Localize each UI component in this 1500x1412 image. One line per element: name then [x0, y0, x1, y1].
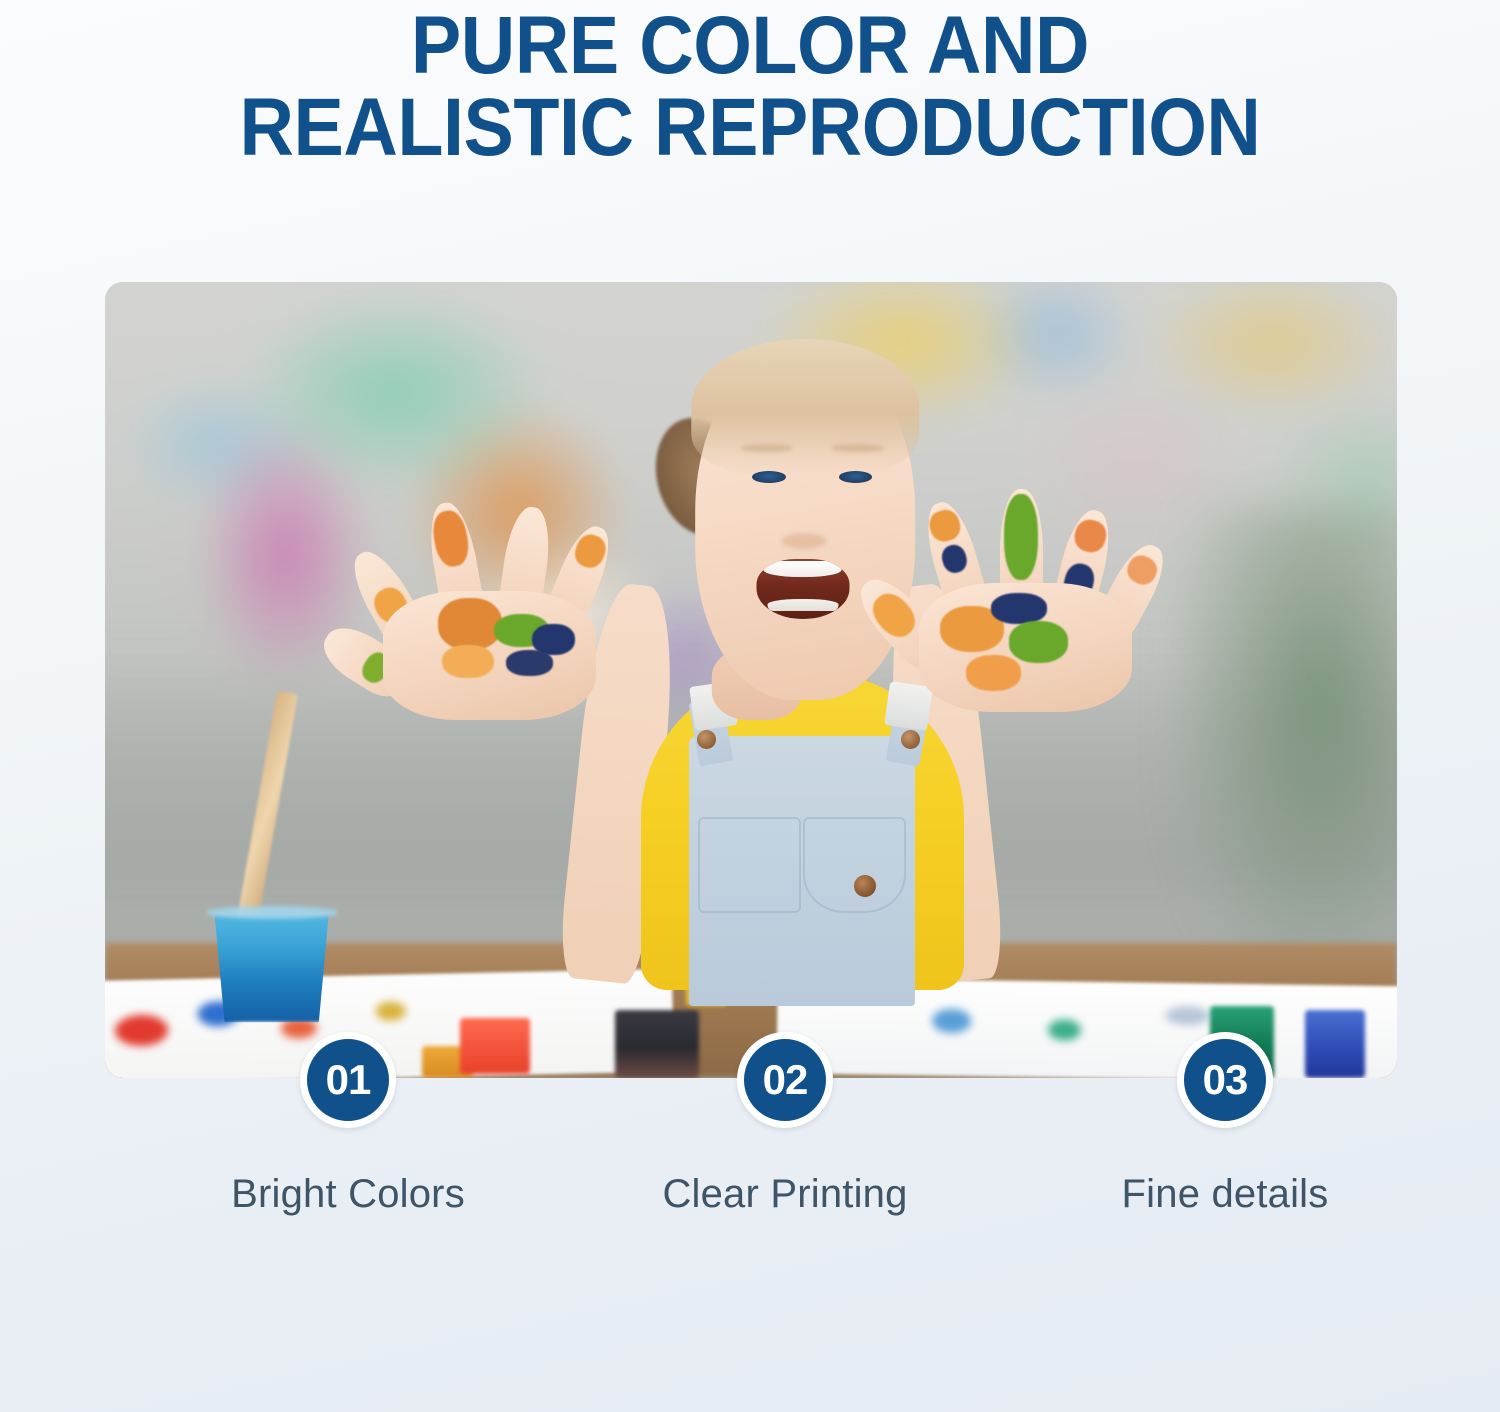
- feature-badge-number: 01: [326, 1059, 371, 1101]
- child-eyebrow-left: [741, 444, 793, 451]
- child-figure: [105, 282, 1397, 1078]
- headline-line-1: PURE COLOR AND: [60, 6, 1440, 86]
- feature-badge-03: 03: [1177, 1032, 1273, 1128]
- paint-mark-navy: [506, 650, 553, 676]
- palm: [919, 583, 1132, 712]
- paint-mark-navy: [939, 542, 971, 576]
- child-eyebrow-right: [832, 444, 884, 451]
- feature-badge-01: 01: [300, 1032, 396, 1128]
- feature-label-02: Clear Printing: [662, 1172, 907, 1217]
- child-nose: [782, 533, 826, 549]
- paint-mark-orange: [1123, 550, 1162, 588]
- child-denim-overalls: [689, 736, 915, 1007]
- paint-mark-navy: [991, 593, 1046, 624]
- page-title: PURE COLOR AND REALISTIC REPRODUCTION: [0, 0, 1500, 167]
- feature-label-01: Bright Colors: [231, 1172, 465, 1217]
- paint-mark-orange: [1071, 516, 1109, 555]
- paint-mark-orange: [926, 506, 963, 544]
- hero-photo: [105, 282, 1397, 1078]
- promo-page: PURE COLOR AND REALISTIC REPRODUCTION: [0, 0, 1500, 1412]
- feature-label-03: Fine details: [1122, 1172, 1329, 1217]
- child-hair: [692, 339, 919, 474]
- feature-badge-number: 02: [763, 1059, 808, 1101]
- paint-mark-orange: [966, 655, 1021, 691]
- child-teeth-lower: [767, 599, 838, 611]
- child-hand-right: [919, 489, 1132, 712]
- palm: [383, 591, 596, 720]
- headline-line-2: REALISTIC REPRODUCTION: [60, 88, 1440, 168]
- hero-photo-content: [105, 282, 1397, 1078]
- feature-badge-number: 03: [1203, 1059, 1248, 1101]
- paint-mark-orange: [430, 509, 471, 569]
- paint-mark-green: [1004, 494, 1038, 580]
- child-teeth-upper: [764, 561, 842, 577]
- paint-mark-orange: [571, 531, 610, 572]
- child-hand-left: [383, 497, 596, 720]
- paint-mark-green: [1009, 621, 1069, 662]
- feature-badge-02: 02: [737, 1032, 833, 1128]
- paint-mark-orange: [442, 645, 493, 679]
- paint-mark-orange: [438, 598, 502, 650]
